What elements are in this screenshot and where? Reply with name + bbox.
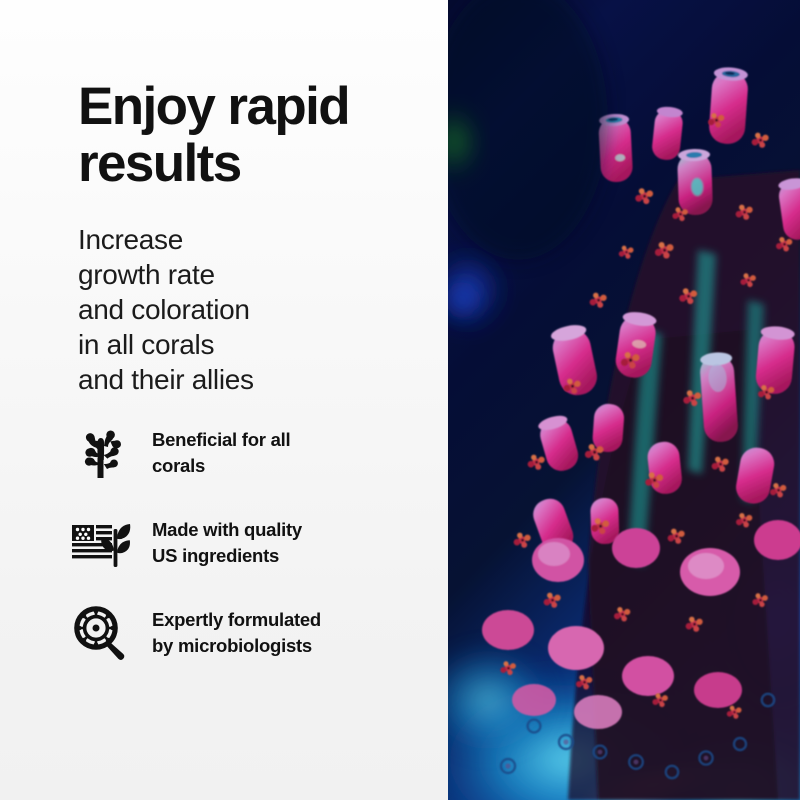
feature-list: Beneficial for all corals [70, 408, 430, 678]
feature-label-microbiologists: Expertly formulated by microbiologists [152, 607, 321, 659]
feature-label-us-ingredients: Made with quality US ingredients [152, 517, 302, 569]
feature-item-us-ingredients: Made with quality US ingredients [70, 498, 430, 588]
headline-line-2: results [78, 135, 408, 192]
subcopy-line-4: in all corals [78, 327, 448, 362]
feature-label-line-1: Expertly formulated [152, 609, 321, 630]
subcopy-line-1: Increase [78, 222, 448, 257]
subcopy-line-5: and their allies [78, 362, 448, 397]
magnifier-microbe-icon [70, 602, 132, 664]
feature-label-line-1: Made with quality [152, 519, 302, 540]
feature-label-line-2: corals [152, 455, 205, 476]
subcopy: Increase growth rate and coloration in a… [78, 222, 448, 397]
feature-item-corals: Beneficial for all corals [70, 408, 430, 498]
feature-label-line-2: US ingredients [152, 545, 279, 566]
feature-item-microbiologists: Expertly formulated by microbiologists [70, 588, 430, 678]
subcopy-line-3: and coloration [78, 292, 448, 327]
feature-label-corals: Beneficial for all corals [152, 427, 290, 479]
coral-photo [448, 0, 800, 800]
text-panel: Enjoy rapid results Increase growth rate… [0, 0, 448, 800]
subcopy-line-2: growth rate [78, 257, 448, 292]
coral-branch-icon [70, 422, 132, 484]
headline-line-1: Enjoy rapid [78, 78, 408, 135]
us-flag-plant-icon [70, 512, 132, 574]
feature-label-line-2: by microbiologists [152, 635, 312, 656]
promo-card: Enjoy rapid results Increase growth rate… [0, 0, 800, 800]
page-title: Enjoy rapid results [78, 78, 408, 192]
feature-label-line-1: Beneficial for all [152, 429, 290, 450]
